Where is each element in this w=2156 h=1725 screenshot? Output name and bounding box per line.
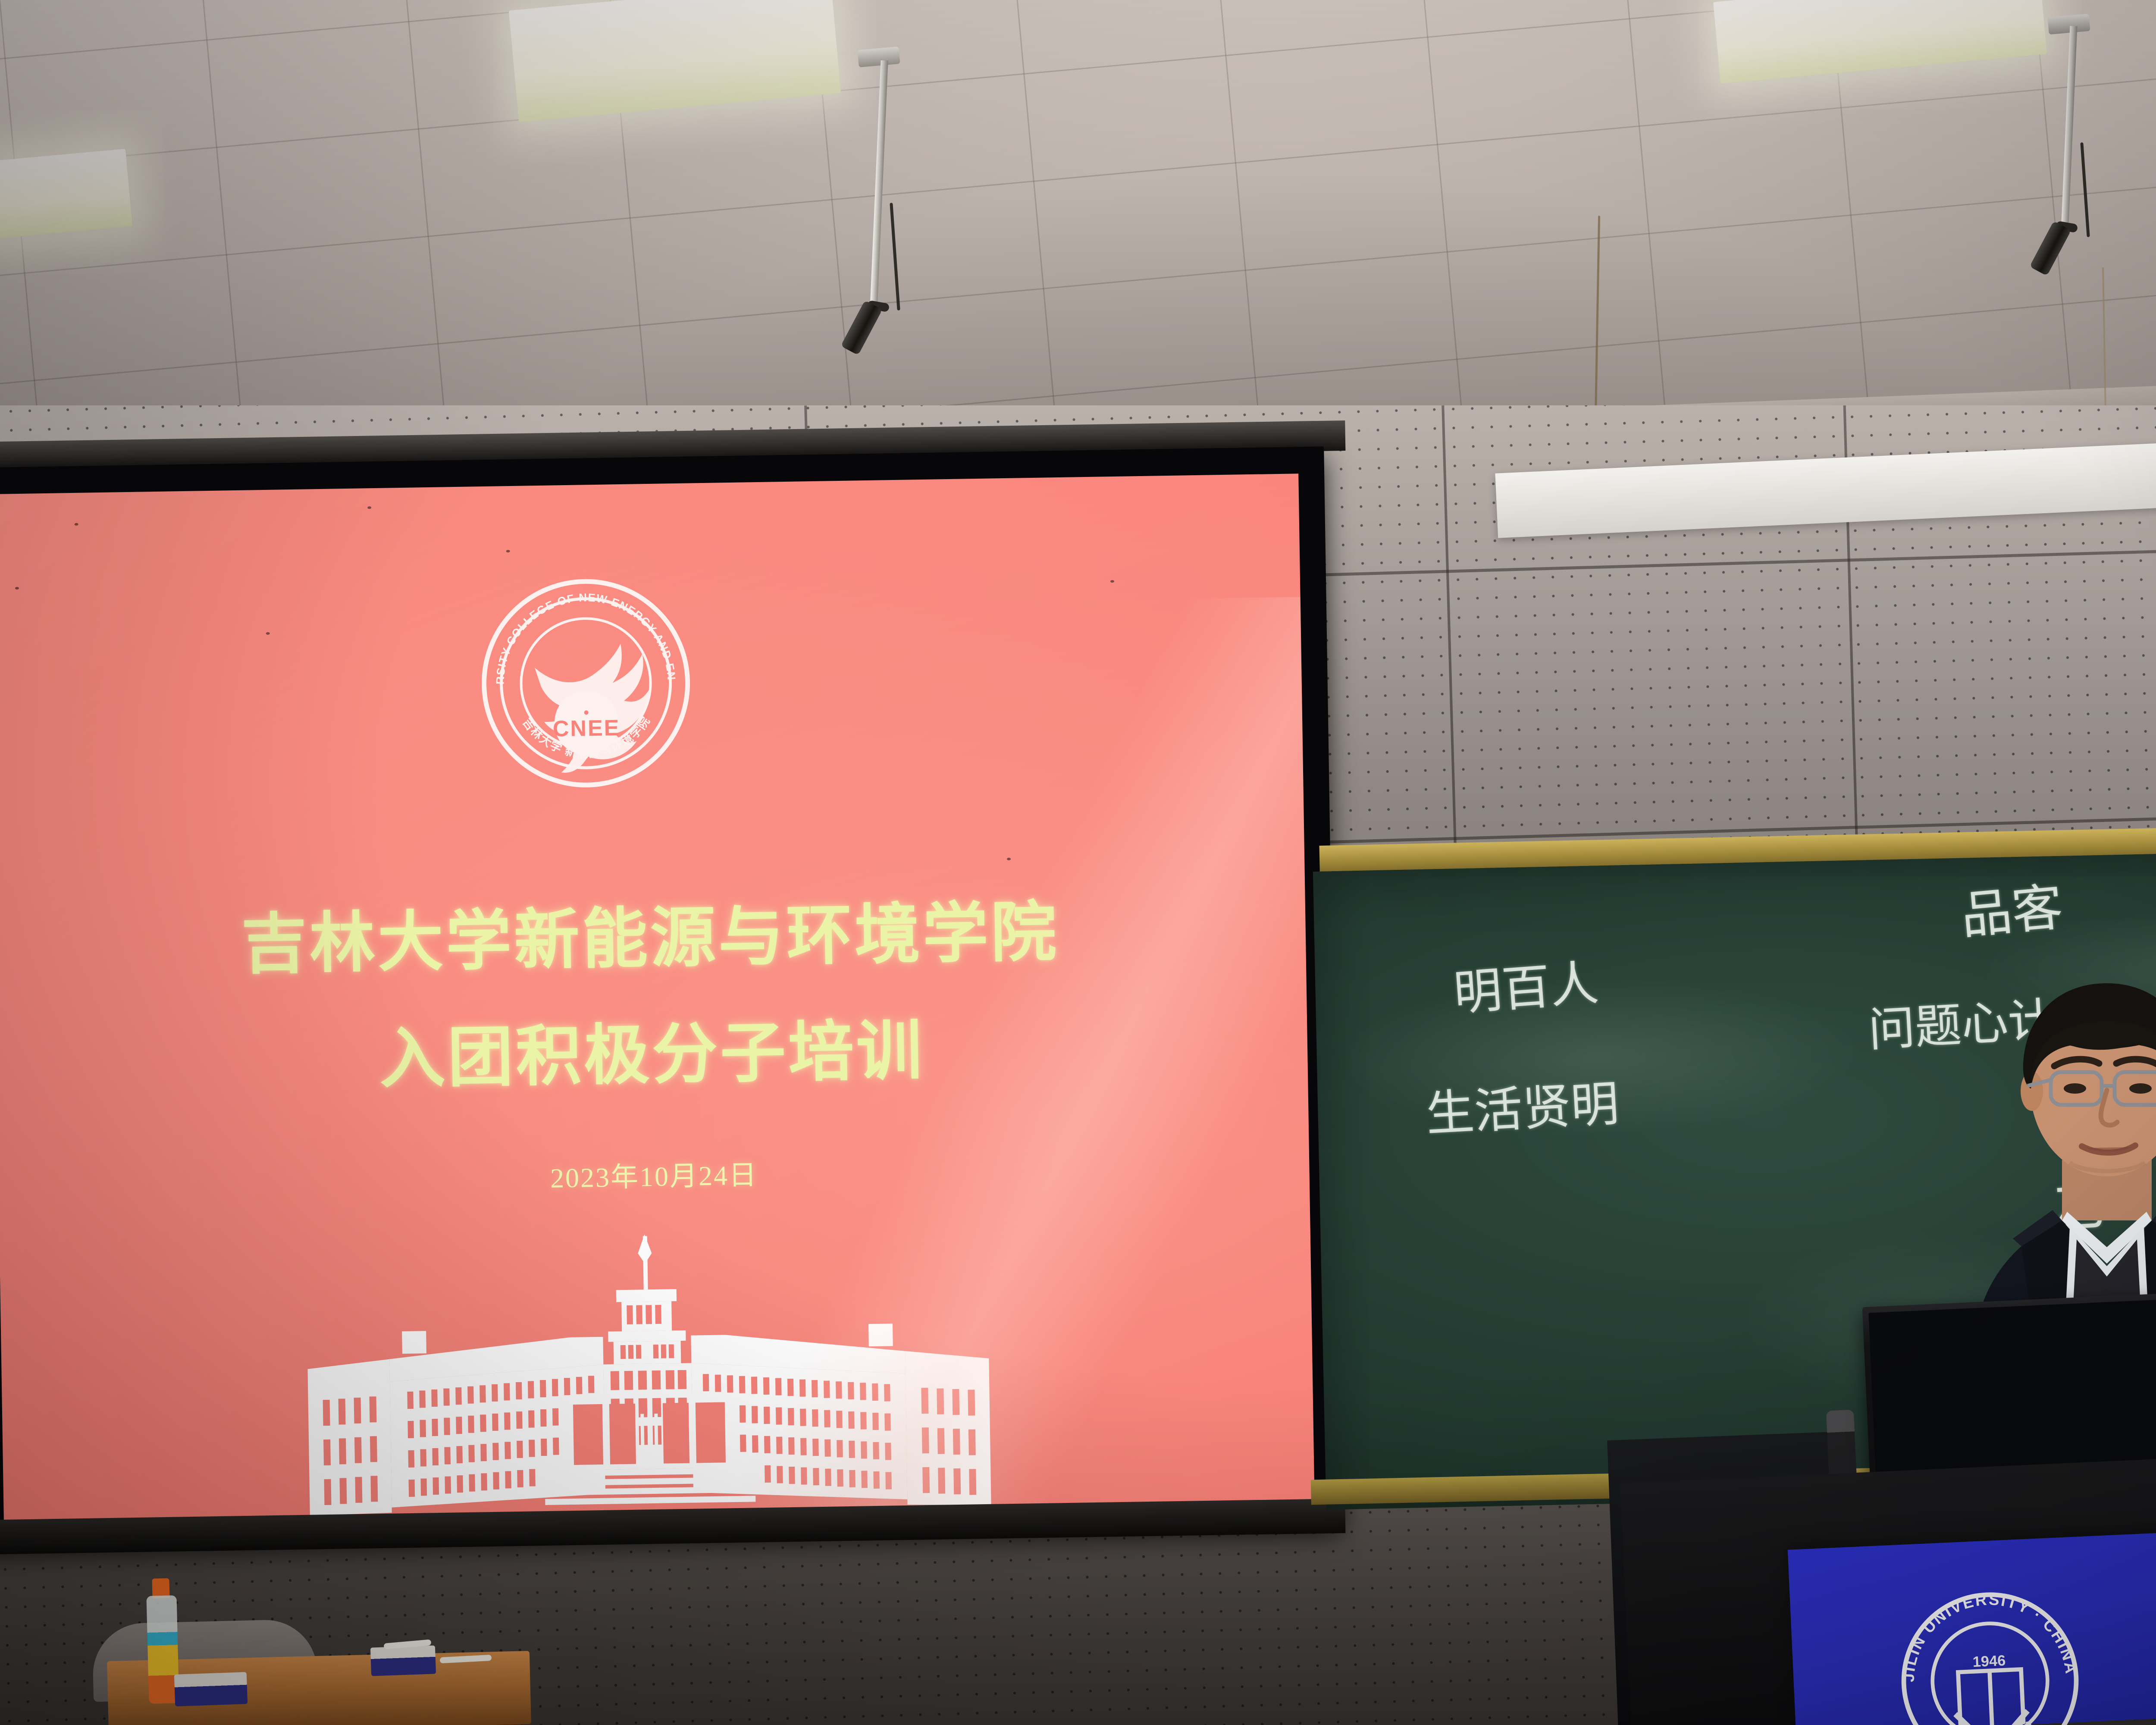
slide-date: 2023年10月24日 xyxy=(0,1144,1310,1204)
spotlight-ceiling-mount xyxy=(857,47,900,67)
chalk-writing: 生活贤明 xyxy=(1424,1065,1620,1145)
dust-speck xyxy=(367,506,371,509)
projection-screen: JILIN UNIVERSITY COLLEGE OF NEW ENERGY A… xyxy=(0,446,1341,1546)
ceiling-shading xyxy=(0,0,2156,457)
blackboard-eraser xyxy=(370,1645,436,1676)
svg-text:1946: 1946 xyxy=(1972,1653,2006,1670)
jilin-university-seal: JILIN UNIVERSITY · CHINA 吉 林 大 学 1946 xyxy=(1893,1584,2087,1725)
blackboard-eraser xyxy=(174,1672,248,1706)
ceiling xyxy=(0,0,2156,457)
dust-speck xyxy=(1007,858,1011,860)
chalk-writing: 明百人 xyxy=(1451,944,1601,1024)
dust-speck xyxy=(266,632,270,635)
dust-speck xyxy=(1110,580,1114,583)
dust-speck xyxy=(15,587,19,590)
lecture-hall-photo: 20 37 2023年10月24日 星期2 JILIN UNIVERSITY C… xyxy=(0,0,2156,1725)
cnee-college-emblem: JILIN UNIVERSITY COLLEGE OF NEW ENERGY A… xyxy=(476,574,696,793)
dust-speck xyxy=(75,523,78,526)
svg-text:CNEE: CNEE xyxy=(553,715,620,741)
dust-speck xyxy=(506,550,510,552)
spotlight-ceiling-mount xyxy=(2047,14,2090,34)
lectern-front-panel: JILIN UNIVERSITY · CHINA 吉 林 大 学 1946 xyxy=(1788,1530,2156,1725)
geology-palace-illustration xyxy=(258,1228,1039,1516)
slide-title-line2: 入团积极分子培训 xyxy=(0,991,1308,1107)
presentation-slide: JILIN UNIVERSITY COLLEGE OF NEW ENERGY A… xyxy=(0,474,1315,1520)
slide-title-line1: 吉林大学新能源与环境学院 xyxy=(0,875,1306,990)
